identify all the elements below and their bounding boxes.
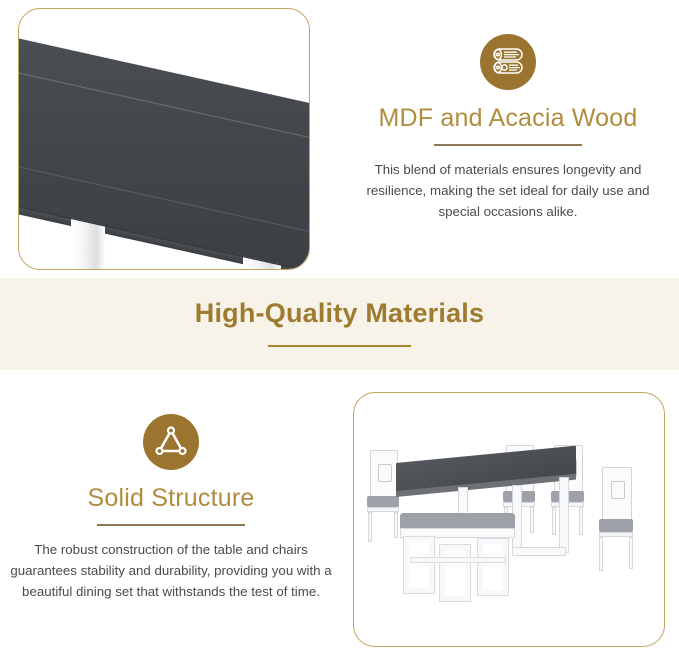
table-leg-outer-right: [559, 477, 569, 553]
bench-leg-left: [404, 537, 434, 593]
chair-backrest: [370, 450, 398, 498]
photo-frame-table-closeup: [18, 8, 310, 270]
table-top-surface: [18, 31, 310, 270]
table-corner-photo: [19, 9, 309, 269]
bench-leg-center: [440, 545, 470, 601]
section-banner-divider: [268, 345, 411, 347]
chair-leg: [629, 537, 633, 569]
bench-leg-right: [478, 539, 508, 595]
photo-frame-dining-set: [353, 392, 665, 647]
infographic-canvas: MDF and Acacia Wood This blend of materi…: [0, 0, 679, 653]
chair-back-left: [370, 450, 396, 526]
table-foot-rail: [512, 547, 566, 556]
feature-divider: [97, 524, 245, 526]
feature-title: Solid Structure: [8, 484, 334, 513]
stacked-logs-icon: [480, 34, 536, 90]
chair-seat-cushion: [367, 496, 399, 507]
chair-backrest: [602, 467, 632, 521]
chair-leg: [599, 537, 603, 571]
feature-divider: [434, 144, 582, 146]
chair-seat-cushion: [599, 519, 633, 532]
chair-leg: [579, 507, 583, 535]
triangle-nodes-icon: [143, 414, 199, 470]
dining-set-photo: [354, 393, 664, 646]
chair-leg: [368, 512, 372, 542]
feature-body: This blend of materials ensures longevit…: [345, 159, 671, 222]
chair-right-side: [602, 467, 630, 553]
dining-bench: [400, 513, 515, 593]
feature-body: The robust construction of the table and…: [8, 539, 334, 602]
bench-stretcher: [410, 557, 506, 563]
chair-seat-apron: [599, 532, 633, 537]
section-banner-title: High-Quality Materials: [0, 298, 679, 329]
feature-title: MDF and Acacia Wood: [345, 104, 671, 133]
feature-block-mdf-acacia-wood: MDF and Acacia Wood This blend of materi…: [345, 34, 671, 222]
feature-block-solid-structure: Solid Structure The robust construction …: [8, 414, 334, 602]
